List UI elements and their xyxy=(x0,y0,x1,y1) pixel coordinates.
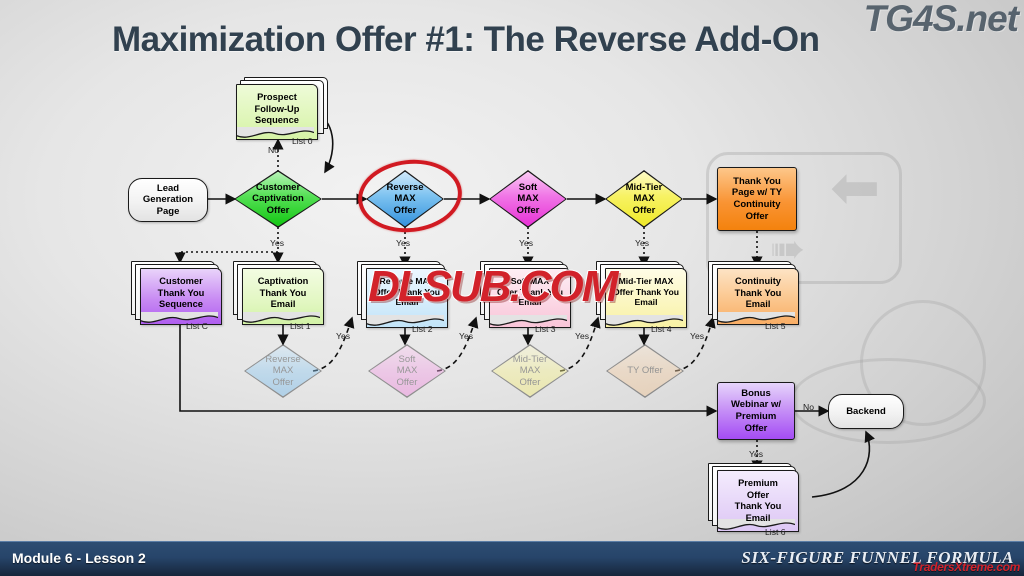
doc-front: Premium Offer Thank You Email xyxy=(717,470,799,532)
node-label: Bonus Webinar w/ Premium Offer xyxy=(731,388,781,434)
doc-front: Prospect Follow-Up Sequence xyxy=(236,84,318,140)
list-label-captivation: List 1 xyxy=(290,321,311,331)
doc-front: Captivation Thank You Email xyxy=(242,268,324,325)
node-ghost-soft-max-offer[interactable]: Soft MAX Offer xyxy=(368,344,446,398)
node-prospect-follow-up-sequence[interactable]: Prospect Follow-Up Sequence xyxy=(236,84,318,140)
edge-label-yes-reverse: Yes xyxy=(396,238,410,248)
edge-label-yes-ghost-midtier: Yes xyxy=(575,331,589,341)
node-label: Prospect Follow-Up Sequence xyxy=(237,92,317,127)
node-label: Customer Captivation Offer xyxy=(234,170,322,228)
node-lead-generation-page[interactable]: Lead Generation Page xyxy=(128,178,208,222)
doc-front: Mid-Tier MAX Offer Thank You Email xyxy=(605,268,687,328)
slide-canvas: ⬅ ➠ Maximization Offer #1: The Reverse A… xyxy=(0,0,1024,576)
node-backend[interactable]: Backend xyxy=(828,394,904,429)
list-label-prospect: List 0 xyxy=(292,136,313,146)
node-captivation-thank-you-email[interactable]: Captivation Thank You Email xyxy=(242,268,324,325)
node-mid-tier-max-offer[interactable]: Mid-Tier MAX Offer xyxy=(605,170,683,228)
edge-label-yes-midtier: Yes xyxy=(635,238,649,248)
node-label: Soft MAX Offer xyxy=(368,344,446,398)
node-soft-max-offer[interactable]: Soft MAX Offer xyxy=(489,170,567,228)
slide-footer: Module 6 - Lesson 2 SIX-FIGURE FUNNEL FO… xyxy=(0,541,1024,576)
node-label: Customer Thank You Sequence xyxy=(141,276,221,311)
node-customer-captivation-offer[interactable]: Customer Captivation Offer xyxy=(234,170,322,228)
edge-label-yes-ghost-reverse: Yes xyxy=(336,331,350,341)
node-bonus-webinar-premium-offer[interactable]: Bonus Webinar w/ Premium Offer xyxy=(717,382,795,440)
node-label: Mid-Tier MAX Offer xyxy=(605,170,683,228)
list-label-soft-email: List 3 xyxy=(535,324,556,334)
node-ghost-mid-tier-max-offer[interactable]: Mid-Tier MAX Offer xyxy=(491,344,569,398)
edge-label-yes-ghost-soft: Yes xyxy=(459,331,473,341)
edge-label-yes-soft: Yes xyxy=(519,238,533,248)
edge-label-yes-captivation: Yes xyxy=(270,238,284,248)
node-mid-tier-thank-you-email[interactable]: Mid-Tier MAX Offer Thank You Email xyxy=(605,268,687,328)
watermark-center: DLSUB.COM xyxy=(368,262,616,312)
node-label: Backend xyxy=(846,406,886,418)
edge-label-no-backend: No xyxy=(803,402,814,412)
footer-module-lesson: Module 6 - Lesson 2 xyxy=(12,550,146,566)
node-label: Mid-Tier MAX Offer Thank You Email xyxy=(606,276,686,308)
list-label-premium: List 6 xyxy=(765,527,786,537)
node-label: Reverse MAX Offer xyxy=(244,344,322,398)
node-label: Premium Offer Thank You Email xyxy=(718,478,798,524)
edge-label-yes-ghost-ty: Yes xyxy=(690,331,704,341)
node-continuity-thank-you-email[interactable]: Continuity Thank You Email xyxy=(717,268,799,325)
list-label-reverse-email: List 2 xyxy=(412,324,433,334)
list-label-continuity: List 5 xyxy=(765,321,786,331)
node-label: Mid-Tier MAX Offer xyxy=(491,344,569,398)
node-label: Lead Generation Page xyxy=(143,183,193,218)
doc-front: Continuity Thank You Email xyxy=(717,268,799,325)
node-label: Continuity Thank You Email xyxy=(718,276,798,311)
node-label: Thank You Page w/ TY Continuity Offer xyxy=(732,176,782,222)
node-customer-thank-you-sequence[interactable]: Customer Thank You Sequence xyxy=(140,268,222,325)
edge-label-no-prospect: No xyxy=(268,145,279,155)
node-label: Captivation Thank You Email xyxy=(243,276,323,311)
node-ghost-ty-offer[interactable]: TY Offer xyxy=(606,344,684,398)
node-premium-offer-thank-you-email[interactable]: Premium Offer Thank You Email xyxy=(717,470,799,532)
node-label: TY Offer xyxy=(606,344,684,398)
edge-label-yes-premium: Yes xyxy=(749,449,763,459)
doc-front: Customer Thank You Sequence xyxy=(140,268,222,325)
node-thank-you-page-ty-continuity[interactable]: Thank You Page w/ TY Continuity Offer xyxy=(717,167,797,231)
node-ghost-reverse-max-offer[interactable]: Reverse MAX Offer xyxy=(244,344,322,398)
node-label: Soft MAX Offer xyxy=(489,170,567,228)
watermark-bottom-right: TradersXtreme.com xyxy=(913,560,1020,574)
list-label-customer-ty: List C xyxy=(186,321,208,331)
list-label-midtier-email: List 4 xyxy=(651,324,672,334)
